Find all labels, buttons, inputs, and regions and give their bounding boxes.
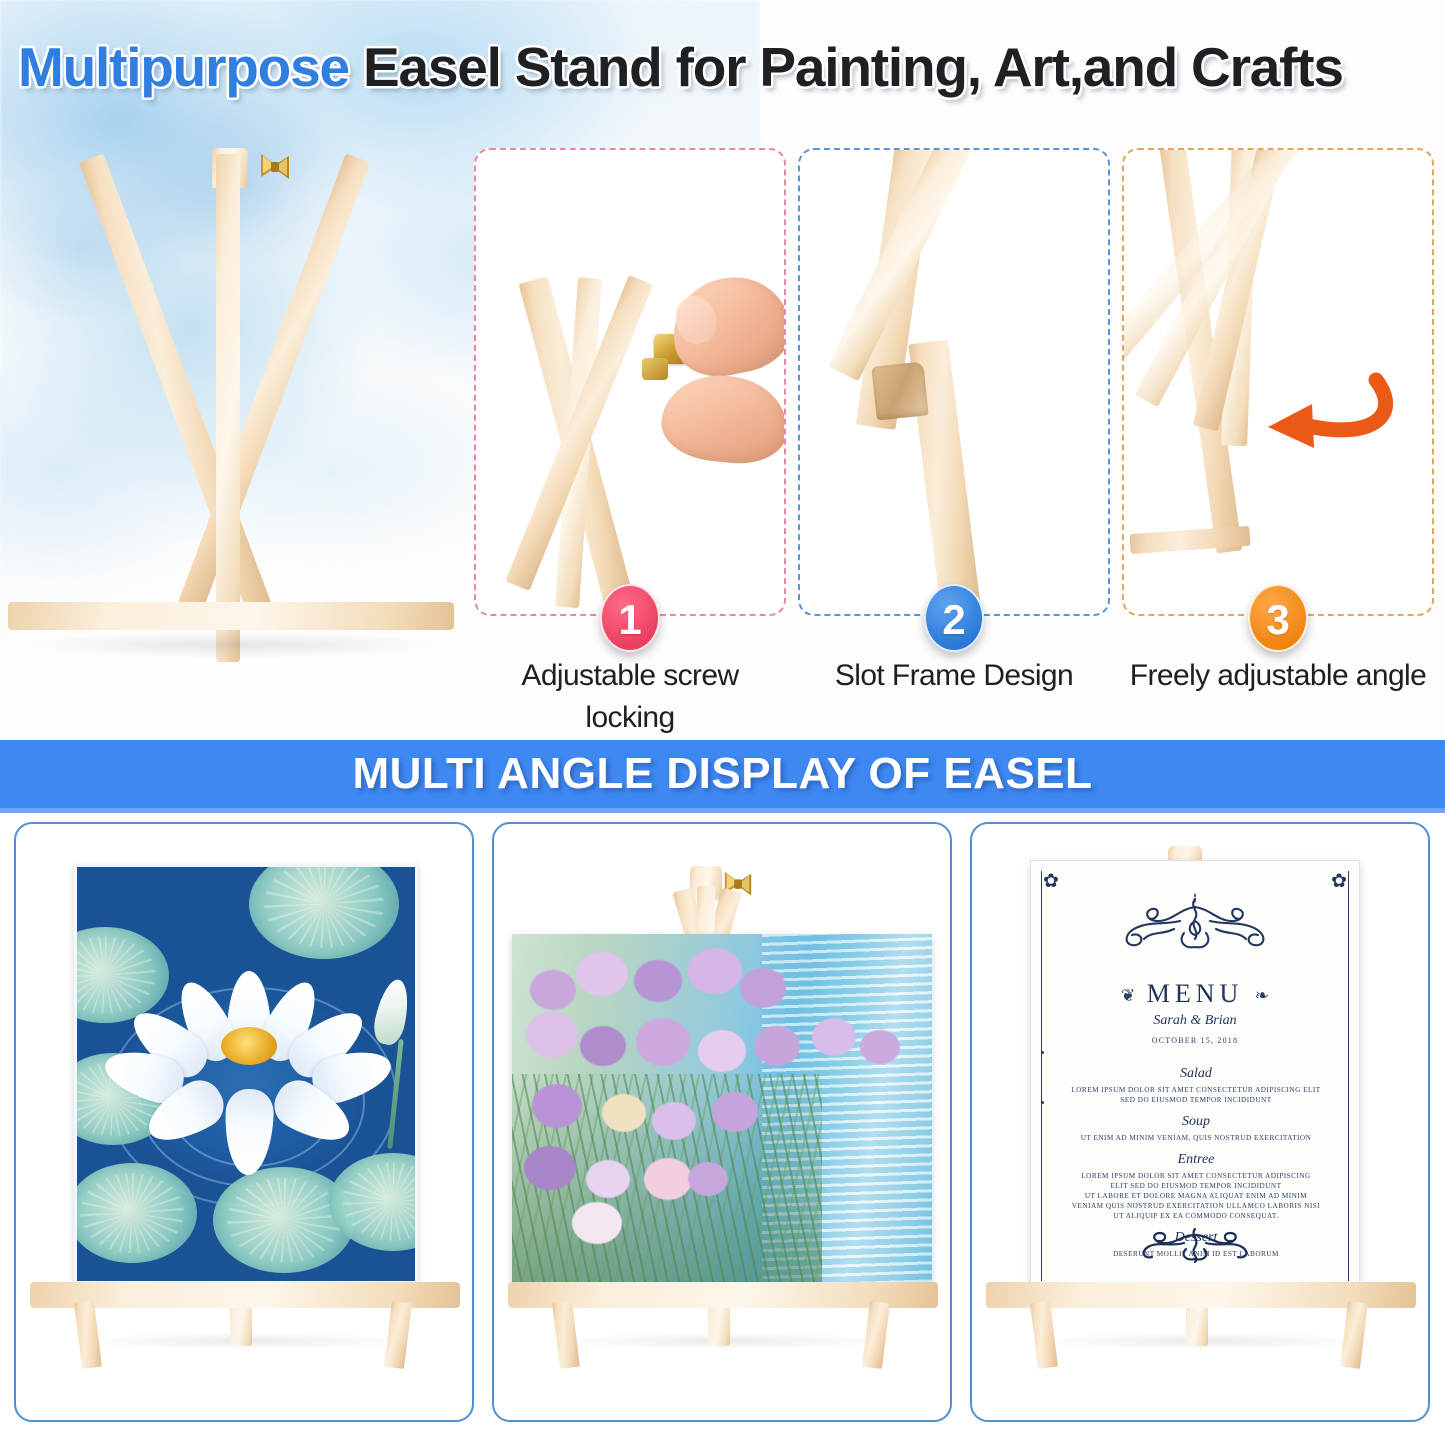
feature-panel-2 [798,148,1110,616]
blossom [644,1158,692,1200]
easel-ledge-bar [8,602,454,630]
blossom [636,1018,690,1066]
blossom [532,1084,582,1128]
course-name: Soup [1057,1114,1335,1130]
blossom [860,1030,900,1064]
course-name: Salad [1057,1066,1335,1082]
display-panel-menu: ✿ ✿ ❦ MENU ❧ [970,822,1430,1422]
blossom [602,1094,646,1132]
blossom [572,1202,622,1244]
feature-badge-3: 3 [1248,584,1308,652]
panel1-finger-lower [658,370,786,469]
easel-right-leg [178,153,370,612]
blossom [526,1012,578,1058]
blossom [688,1162,728,1196]
course-line: ELIT SED DO EIUSMOD TEMPOR INCIDIDUNT [1057,1181,1335,1191]
course-line: UT ENIM AD MINIM VENIAM, QUIS NOSTRUD EX… [1057,1133,1335,1143]
easel-left-leg [79,153,271,612]
feature-caption-2: Slot Frame Design [798,655,1110,697]
title-highlight: Multipurpose [18,36,349,98]
menu-card-artwork: ✿ ✿ ❦ MENU ❧ [1030,860,1360,1292]
stand1-leg-left [74,1301,102,1369]
course-line: UT ALIQUIP EX EA COMMODO CONSEQUAT. [1057,1211,1335,1221]
stand3-leg-front-right [1340,1301,1368,1369]
easel-shadow [28,632,438,658]
blossom [634,960,682,1002]
blossom [586,1160,630,1198]
stand1-leg-right [384,1301,412,1369]
blossom [812,1018,856,1056]
feature-badge-2: 2 [924,584,984,652]
feature-caption-1: Adjustable screw locking [474,655,786,697]
section-banner: MULTI ANGLE DISPLAY OF EASEL [0,740,1445,808]
display-panel-lotus [14,822,474,1422]
blossom [530,970,576,1010]
main-easel-image [0,140,470,715]
blossom [576,952,628,996]
blossom [740,968,786,1008]
panel1-brass-wing [642,358,668,380]
course-line: LOREM IPSUM DOLOR SIT AMET CONSECTETUR A… [1057,1171,1335,1181]
product-infographic: Multipurpose Easel Stand for Painting, A… [0,0,1445,1435]
menu-bottom-flourish-icon [1120,1225,1270,1265]
feature-caption-3: Freely adjustable angle [1122,655,1434,697]
stand2-leg-front-right [862,1301,890,1369]
blossom [688,948,742,994]
brass-wingnut-icon [258,150,292,188]
banner-underline [0,808,1445,813]
menu-top-flourish-icon [1088,891,1302,965]
menu-couple-names: Sarah & Brian [1031,1013,1359,1029]
menu-title: ❦ MENU ❧ [1031,979,1359,1009]
easel-center-leg [216,154,240,662]
floral-artwork [512,934,932,1294]
menu-title-text: MENU [1147,979,1244,1008]
course-line: SED DO EIUSMOD TEMPOR INCIDIDUNT [1057,1095,1335,1105]
feature-panel-1 [474,148,786,616]
blossom [712,1092,758,1132]
section-banner-text: MULTI ANGLE DISPLAY OF EASEL [0,740,1445,808]
display-panel-floral [492,822,952,1422]
menu-swash-right: ❧ [1255,986,1269,1005]
blossom [698,1030,746,1072]
course-line: LOREM IPSUM DOLOR SIT AMET CONSECTETUR A… [1057,1085,1335,1095]
page-title: Multipurpose Easel Stand for Painting, A… [18,30,1438,104]
menu-corner-ornament-left: ✿ [1043,873,1067,891]
rotation-arrow-icon [1234,364,1404,484]
lotus-artwork [74,864,418,1284]
title-rest: Easel Stand for Painting, Art,and Crafts [363,36,1343,98]
course-line: VENIAM QUIS NOSTRUD EXERCITATION ULLAMCO… [1057,1201,1335,1211]
feature-panel-3 [1122,148,1434,616]
blossom [652,1102,696,1140]
menu-corner-ornament-right: ✿ [1323,873,1347,891]
course-line: UT LABORE ET DOLORE MAGNA ALIQUAT ENIM A… [1057,1191,1335,1201]
blossom [754,1026,800,1066]
feature-badge-1: 1 [600,584,660,652]
stand3-leg-front-left [1030,1301,1058,1369]
lotus-center [221,1027,277,1065]
blossom [580,1026,626,1066]
panel2-slot-notch [871,361,928,420]
blossom [524,1146,576,1190]
stand2-leg-front-left [552,1301,580,1369]
menu-date: OCTOBER 15, 2018 [1031,1036,1359,1045]
course-name: Entree [1057,1152,1335,1168]
menu-swash-left: ❦ [1121,986,1135,1005]
